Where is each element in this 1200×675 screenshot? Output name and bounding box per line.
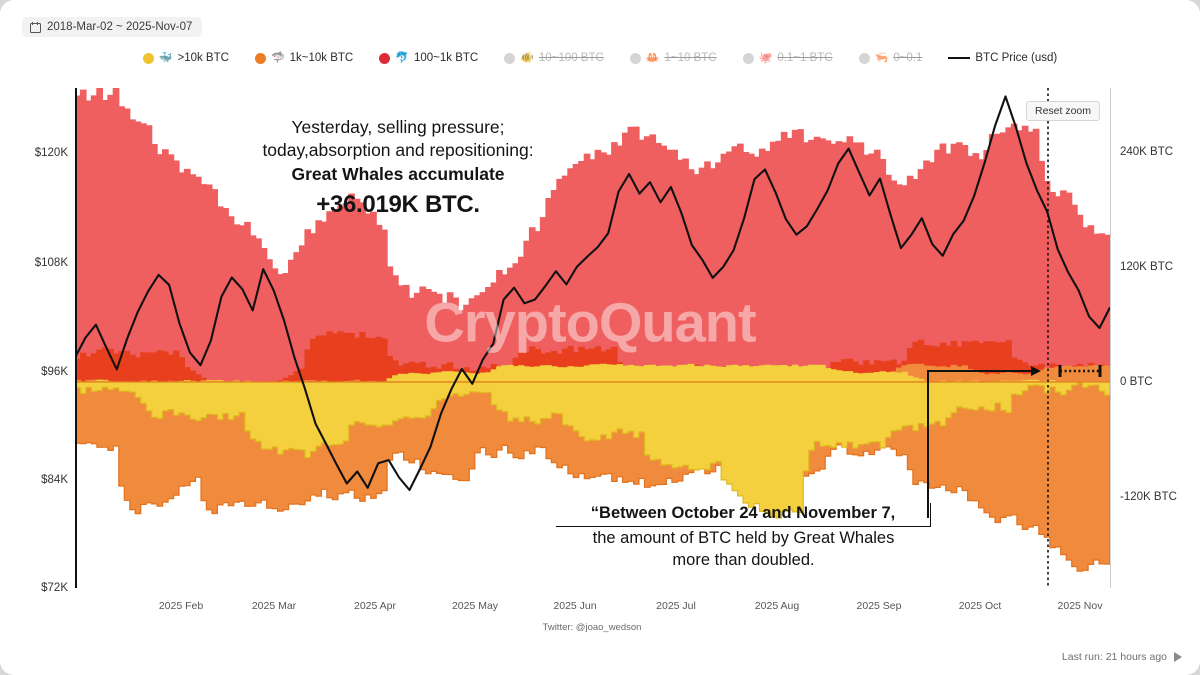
x-tick: 2025 Sep — [857, 600, 902, 612]
y-tick-left: $96K — [41, 366, 68, 378]
x-tick: 2025 Mar — [252, 600, 296, 612]
y-tick-right: -120K BTC — [1120, 491, 1177, 503]
twitter-credit: Twitter: @joao_wedson — [543, 622, 642, 633]
annotation-bottom-line3: more than doubled. — [556, 550, 931, 572]
legend-emoji-icon: 🐳 — [159, 53, 173, 64]
legend-item-label: 1~10 BTC — [665, 52, 717, 64]
legend-color-dot — [504, 53, 515, 64]
x-tick: 2025 Aug — [755, 600, 799, 612]
chart-page: 2018-Mar-02 ~ 2025-Nov-07 🐳>10k BTC🦈1k~1… — [0, 0, 1200, 675]
y-axis-right — [1110, 88, 1111, 588]
legend-item-label: BTC Price (usd) — [975, 52, 1057, 64]
legend-item-0[interactable]: 🐳>10k BTC — [143, 52, 229, 64]
date-range-label: 2018-Mar-02 ~ 2025-Nov-07 — [47, 21, 192, 33]
annotation-bottom-line2: the amount of BTC held by Great Whales — [556, 528, 931, 550]
annotation-top-line2: today,absorption and repositioning: — [243, 139, 553, 162]
x-tick: 2025 Nov — [1058, 600, 1103, 612]
x-tick: 2025 Jul — [656, 600, 696, 612]
chart-legend: 🐳>10k BTC🦈1k~10k BTC🐬100~1k BTC🐠10~100 B… — [0, 52, 1200, 64]
legend-item-3[interactable]: 🐠10~100 BTC — [504, 52, 604, 64]
annotation-top: Yesterday, selling pressure; today,absor… — [243, 116, 553, 221]
chart-series-path — [75, 88, 1110, 382]
x-tick: 2025 Apr — [354, 600, 396, 612]
legend-item-label: 1k~10k BTC — [290, 52, 354, 64]
line-marker-icon — [948, 57, 970, 59]
legend-item-label: 0~0.1 — [893, 52, 922, 64]
legend-color-dot — [630, 53, 641, 64]
legend-emoji-icon: 🦈 — [271, 53, 285, 64]
last-run-label: Last run: 21 hours ago — [1062, 651, 1167, 663]
legend-emoji-icon: 🐬 — [395, 53, 409, 64]
y-tick-left: $72K — [41, 582, 68, 594]
calendar-icon — [30, 22, 41, 33]
legend-color-dot — [379, 53, 390, 64]
x-tick: 2025 Jun — [553, 600, 596, 612]
legend-emoji-icon: 🐠 — [520, 53, 534, 64]
y-axis-left — [75, 88, 77, 588]
legend-emoji-icon: 🐙 — [759, 53, 773, 64]
y-tick-left: $84K — [41, 474, 68, 486]
legend-emoji-icon: 🦐 — [875, 53, 889, 64]
x-tick: 2025 Oct — [959, 600, 1002, 612]
annotation-top-line1: Yesterday, selling pressure; — [243, 116, 553, 139]
date-range-selector[interactable]: 2018-Mar-02 ~ 2025-Nov-07 — [22, 17, 202, 37]
legend-color-dot — [859, 53, 870, 64]
legend-item-label: 100~1k BTC — [414, 52, 478, 64]
y-tick-right: 0 BTC — [1120, 376, 1153, 388]
legend-color-dot — [143, 53, 154, 64]
y-tick-right: 240K BTC — [1120, 146, 1173, 158]
y-tick-left: $108K — [35, 257, 68, 269]
annotation-top-line3: Great Whales accumulate — [243, 163, 553, 186]
legend-item-6[interactable]: 🦐0~0.1 — [859, 52, 923, 64]
legend-item-label: >10k BTC — [177, 52, 228, 64]
y-tick-right: 120K BTC — [1120, 261, 1173, 273]
legend-item-1[interactable]: 🦈1k~10k BTC — [255, 52, 353, 64]
legend-emoji-icon: 🦀 — [646, 53, 660, 64]
legend-item-5[interactable]: 🐙0.1~1 BTC — [743, 52, 833, 64]
legend-color-dot — [255, 53, 266, 64]
legend-item-label: 0.1~1 BTC — [777, 52, 832, 64]
reset-zoom-button[interactable]: Reset zoom — [1026, 101, 1100, 121]
legend-item-4[interactable]: 🦀1~10 BTC — [630, 52, 717, 64]
legend-item-price[interactable]: BTC Price (usd) — [948, 52, 1057, 64]
play-icon[interactable] — [1174, 652, 1182, 662]
annotation-top-value: +36.019K BTC. — [243, 189, 553, 221]
y-tick-left: $120K — [35, 147, 68, 159]
legend-color-dot — [743, 53, 754, 64]
last-run-status: Last run: 21 hours ago — [1062, 651, 1182, 663]
x-tick: 2025 Feb — [159, 600, 203, 612]
annotation-bottom-line1: “Between October 24 and November 7, — [556, 503, 931, 527]
legend-item-2[interactable]: 🐬100~1k BTC — [379, 52, 478, 64]
x-tick: 2025 May — [452, 600, 498, 612]
legend-item-label: 10~100 BTC — [539, 52, 604, 64]
annotation-bottom: “Between October 24 and November 7, the … — [556, 503, 931, 571]
